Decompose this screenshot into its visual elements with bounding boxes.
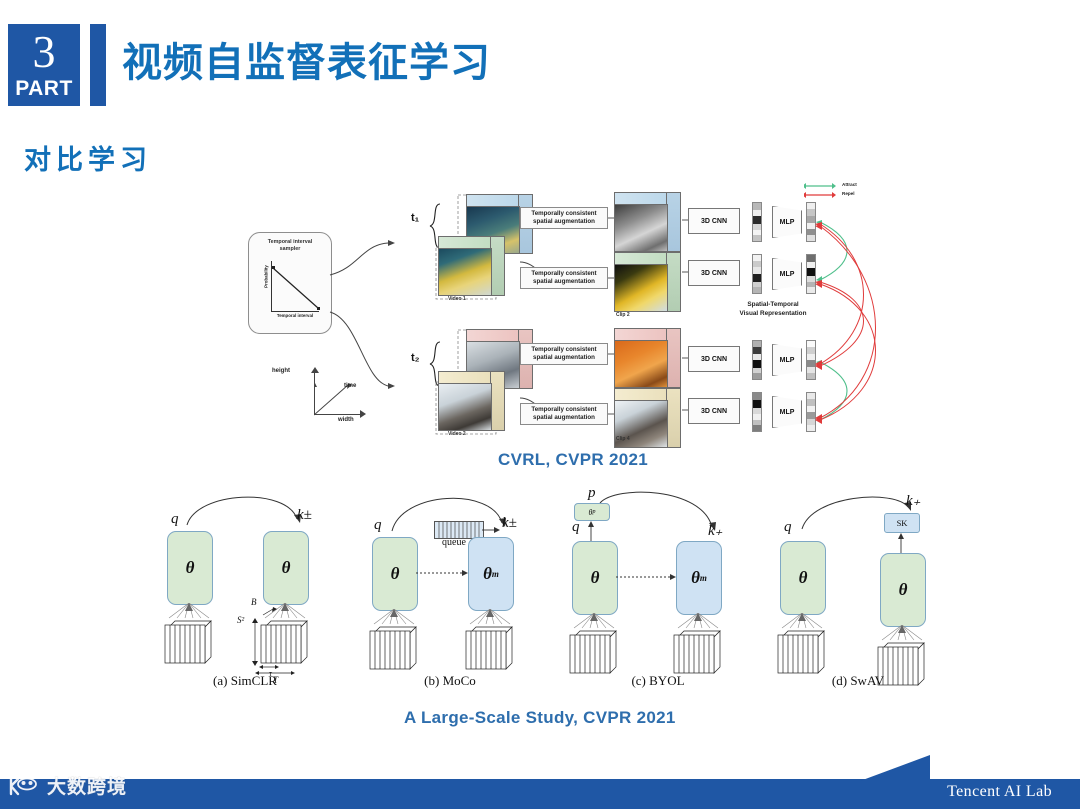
swav-key-label: k₊ [906,491,921,510]
moco-queue-arrow [482,525,504,535]
panel-simclr: q k± θ θ [145,485,345,700]
moco-queue-label: queue [442,537,466,548]
byol-predictor-out-label: p [588,485,596,502]
sampler-x-label: Temporal interval [266,313,324,318]
legend-label-repel: Repel [842,191,855,196]
byol-key-label: k₊ [708,521,723,540]
cnn-box-3: 3D CNN [688,346,740,372]
mlp-box-4: MLP [772,396,802,428]
figure-large-scale-study: q k± θ θ [145,485,945,700]
axis-label-time: time [344,383,356,389]
simclr-left-clipstack [161,613,213,665]
slide-header: 3 PART 视频自监督表征学习 [0,0,1080,120]
panel-moco: q k± queue θ θm [350,485,550,700]
clip2-label: Clip 2 [616,312,630,318]
video1-label: Video 1 [448,296,466,302]
mlp-box-1: MLP [772,206,802,238]
part-badge: 3 PART [8,24,80,106]
moco-query-label: q [374,517,382,534]
sampler-decay-line [272,266,320,310]
section-subtitle: 对比学习 [24,138,152,177]
cvrl-caption: CVRL, CVPR 2021 [498,450,648,470]
sampler-y-label: Probability [264,257,269,297]
large-scale-study-caption: A Large-Scale Study, CVPR 2021 [404,708,676,728]
panel-caption-byol: (c) BYOL [558,673,758,689]
moco-left-encoder: θ [372,537,418,611]
panel-caption-simclr: (a) SimCLR [145,673,345,689]
swav-right-encoder: θ [880,553,926,627]
footer-brand: Tencent AI Lab [947,783,1052,801]
cnn-box-1: 3D CNN [688,208,740,234]
moco-left-clipstack [366,619,418,671]
simclr-query-label: q [171,511,179,528]
mlp-box-2: MLP [772,258,802,290]
moco-right-clipstack [462,619,514,671]
figure-cvrl: Temporal interval sampler Probability Te… [248,180,868,445]
attract-repel-arcs [808,190,918,440]
moco-momentum-arrow [416,569,474,577]
axis-label-height: height [272,368,290,374]
cnn-box-4: 3D CNN [688,398,740,424]
augmentation-box-2: Temporally consistentspatial augmentatio… [520,267,608,289]
simclr-key-label: k± [297,507,312,524]
augmentation-box-3: Temporally consistentspatial augmentatio… [520,343,608,365]
feature-vector-2 [752,254,762,294]
watermark-logo-icon [8,775,42,797]
moco-right-encoder: θm [468,537,514,611]
simclr-dim-annotations [233,603,325,675]
legend-arrows [804,182,844,200]
watermark-text: 大数跨境 [47,772,127,799]
header-accent-bar [90,24,106,106]
swav-query-label: q [784,519,792,536]
feature-vector-4 [752,392,762,432]
panel-byol: p θp q k₊ θ θm [558,485,758,700]
watermark: 大数跨境 [8,772,127,799]
page-title: 视频自监督表征学习 [122,30,491,88]
time-label-t2: t₂ [411,352,420,364]
swav-sk-box: SK [884,513,920,533]
part-number: 3 [33,26,56,78]
temporal-interval-sampler-box: Temporal interval sampler Probability Te… [248,232,332,334]
axis-label-width: width [338,417,354,423]
panel-caption-swav: (d) SwAV [758,673,958,689]
video2-label: Video 2 [448,431,466,437]
panel-swav: q k₊ SK θ θ [758,485,958,700]
feature-vector-3 [752,340,762,380]
moco-key-label: k± [502,515,517,532]
part-word: PART [15,78,73,100]
byol-left-encoder: θ [572,541,618,615]
simclr-top-arc [183,487,315,529]
byol-right-clipstack [670,623,722,675]
simclr-spatial-label: S² [237,615,244,625]
axes-legend-3d: height time width [266,365,366,427]
slide-footer: Tencent AI Lab [0,779,1080,809]
simclr-right-encoder: θ [263,531,309,605]
augmentation-box-1: Temporally consistentspatial augmentatio… [520,207,608,229]
time-label-t1: t₁ [411,212,419,224]
byol-right-encoder: θm [676,541,722,615]
mlp-box-3: MLP [772,344,802,376]
byol-left-clipstack [566,623,618,675]
sampler-title: Temporal interval sampler [249,239,331,253]
swav-left-encoder: θ [780,541,826,615]
legend-label-attract: Attract [842,182,857,187]
byol-momentum-arrow [616,573,682,581]
cnn-box-2: 3D CNN [688,260,740,286]
clip4-label: Clip 4 [616,436,630,442]
swav-left-clipstack [774,623,826,675]
augmentation-box-4: Temporally consistentspatial augmentatio… [520,403,608,425]
footer-notch [860,755,930,781]
footer-band [0,779,1080,809]
simclr-batch-label: B [251,597,257,607]
panel-caption-moco: (b) MoCo [350,673,550,689]
feature-vector-1 [752,202,762,242]
sampler-mini-plot: Probability Temporal interval [261,259,323,321]
simclr-left-encoder: θ [167,531,213,605]
byol-query-label: q [572,519,580,536]
